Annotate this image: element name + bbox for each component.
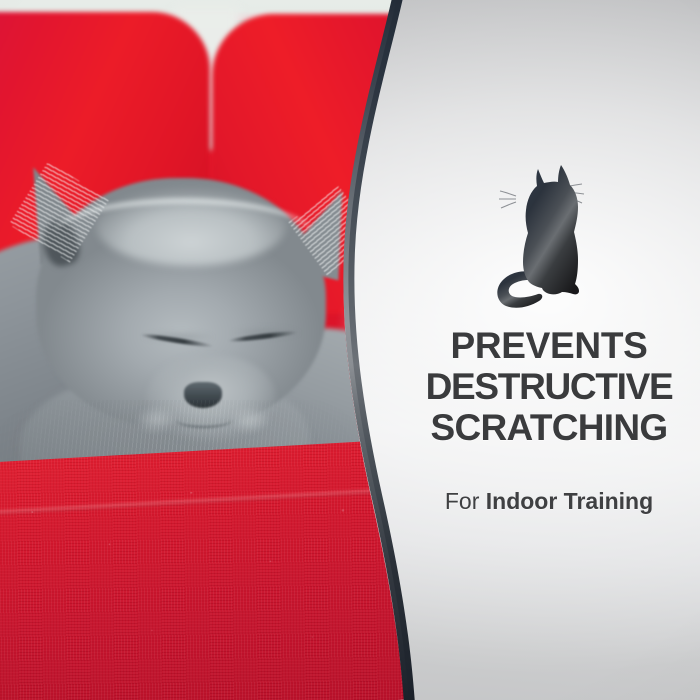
cat-icon-body <box>523 165 579 294</box>
headline-line-3: SCRATCHING <box>398 407 700 448</box>
subtitle-prefix: For <box>445 488 486 514</box>
headline-line-1: PREVENTS <box>398 325 700 366</box>
product-feature-banner: PREVENTS DESTRUCTIVE SCRATCHING For Indo… <box>0 0 700 700</box>
sofa-seat-lint <box>0 437 430 700</box>
subtitle-emphasis: Indoor Training <box>486 488 653 514</box>
subtitle: For Indoor Training <box>398 488 700 515</box>
cat-silhouette-icon <box>486 160 606 310</box>
marketing-content: PREVENTS DESTRUCTIVE SCRATCHING For Indo… <box>398 0 700 700</box>
page-title: PREVENTS DESTRUCTIVE SCRATCHING <box>398 325 700 448</box>
cat-icon-whiskers-left <box>499 191 516 208</box>
headline-line-2: DESTRUCTIVE <box>398 366 700 407</box>
